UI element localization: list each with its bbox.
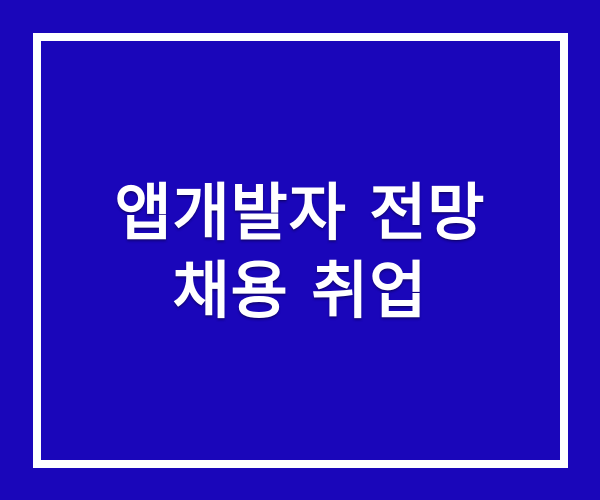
headline-line-1: 앱개발자 전망 [115,177,486,249]
headline-line-2: 채용 취업 [173,255,428,327]
promo-banner: 앱개발자 전망 채용 취업 [0,0,600,500]
headline-block: 앱개발자 전망 채용 취업 [0,0,600,500]
